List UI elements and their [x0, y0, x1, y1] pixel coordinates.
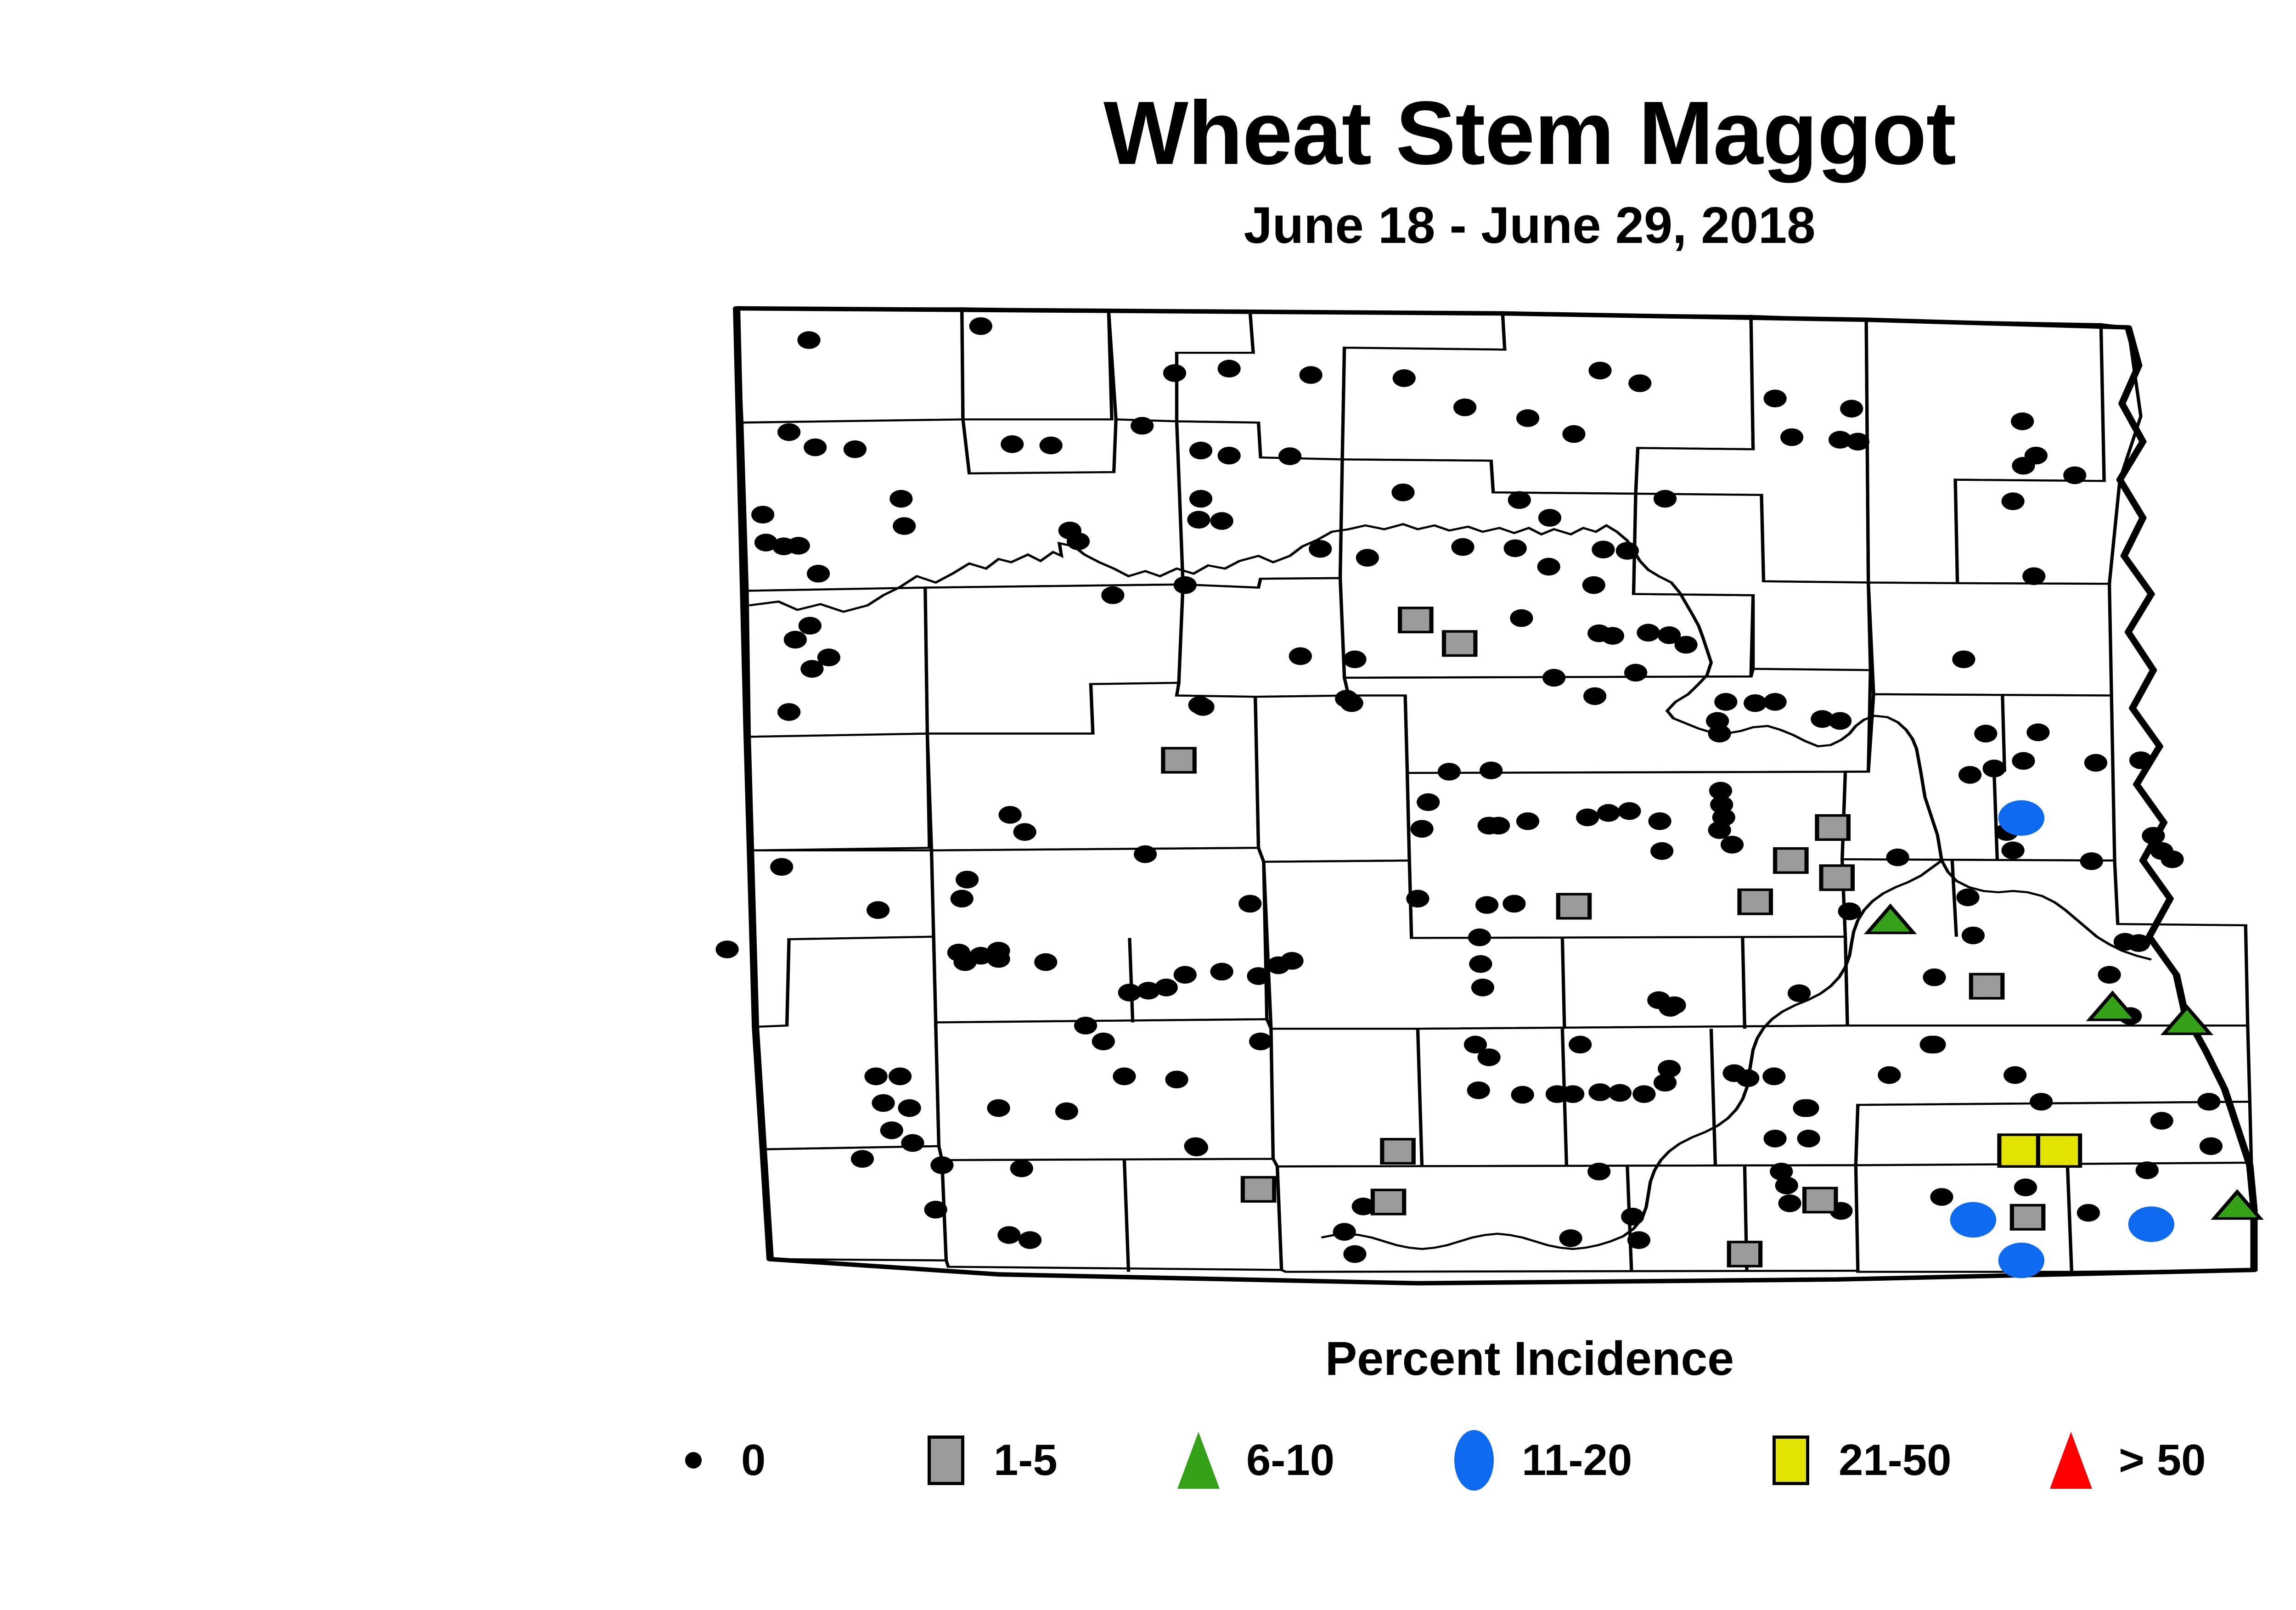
map-marker-zero: [1187, 511, 1210, 529]
map-marker-zero: [1453, 399, 1476, 417]
north-dakota-map: [684, 289, 2296, 1286]
map-marker-zero: [2002, 492, 2025, 510]
map-marker-zero: [987, 1099, 1010, 1117]
map-marker-zero: [893, 517, 916, 535]
map-marker-zero: [1238, 895, 1261, 913]
map-marker-zero: [1648, 812, 1671, 830]
map-svg: [684, 289, 2296, 1286]
map-marker-zero: [2127, 934, 2150, 952]
map-marker-zero: [1471, 979, 1494, 996]
map-marker-zero: [1210, 963, 1233, 980]
map-marker-zero: [1930, 1188, 1953, 1206]
map-marker-zero: [2161, 850, 2183, 868]
map-marker-square: [1971, 974, 2002, 998]
map-marker-zero: [1174, 576, 1197, 594]
blue-circle-icon: [1442, 1428, 1506, 1492]
map-marker-zero: [1576, 809, 1599, 827]
map-marker-zero: [1788, 984, 1811, 1002]
map-marker-zero: [2022, 567, 2045, 585]
map-marker-zero: [1478, 1048, 1501, 1066]
map-marker-zero: [1189, 490, 1212, 508]
map-marker-zero: [872, 1094, 895, 1112]
map-marker-zero: [969, 317, 992, 335]
legend-item-label: 21-50: [1839, 1435, 1952, 1486]
map-marker-zero: [1840, 400, 1863, 417]
map-marker-zero: [1923, 968, 1946, 986]
map-marker-zero: [1101, 586, 1124, 604]
map-marker-zero: [1764, 693, 1787, 711]
map-marker-zero: [1001, 435, 1024, 453]
map-marker-zero: [1013, 823, 1036, 841]
map-marker-zero: [1478, 817, 1501, 835]
map-marker-zero: [1778, 1194, 1801, 1212]
map-marker-zero: [1165, 1070, 1188, 1088]
map-marker-square: [2012, 1205, 2043, 1229]
map-marker-zero: [1278, 447, 1301, 465]
map-marker-zero: [2197, 1093, 2220, 1111]
map-marker-zero: [1886, 849, 1909, 867]
map-marker-zero: [1113, 1068, 1136, 1086]
map-marker-zero: [1762, 1068, 1785, 1086]
map-marker-square: [1444, 631, 1475, 656]
map-marker-zero: [851, 1150, 874, 1168]
map-marker-zero: [1659, 999, 1682, 1017]
green-triangle-icon-shape: [1177, 1432, 1220, 1489]
map-marker-zero: [901, 1134, 924, 1152]
map-marker-zero: [1055, 1103, 1078, 1120]
map-marker-zero: [1723, 1064, 1746, 1082]
map-marker-square: [2038, 1135, 2080, 1166]
map-marker-zero: [2200, 1137, 2223, 1155]
map-marker-zero: [1393, 369, 1416, 387]
map-marker-zero: [924, 1201, 947, 1219]
map-marker-zero: [1343, 1245, 1366, 1263]
map-marker-square: [1558, 894, 1589, 918]
map-marker-zero: [1838, 902, 1861, 920]
map-marker-zero: [1628, 374, 1651, 392]
map-marker-zero: [1923, 1036, 1946, 1053]
legend-items: 01-56-1011-2021-50> 50: [0, 1421, 2296, 1513]
map-marker-zero: [1131, 417, 1154, 435]
map-marker-zero: [1637, 624, 1660, 642]
map-marker-zero: [1174, 966, 1197, 984]
map-marker-zero: [1846, 433, 1869, 450]
map-marker-zero: [2098, 966, 2121, 984]
map-marker-zero: [1721, 836, 1744, 854]
map-marker-zero: [1562, 425, 1585, 443]
map-marker-zero: [1480, 761, 1503, 779]
map-marker-zero: [1249, 1033, 1272, 1051]
map-marker-zero: [2026, 723, 2049, 741]
map-marker-zero: [2012, 752, 2035, 770]
map-marker-zero: [2012, 457, 2035, 475]
map-marker-zero: [1542, 669, 1565, 687]
map-marker-zero: [1618, 802, 1641, 820]
page-title: Wheat Stem Maggot: [0, 87, 2296, 179]
legend-item-label: > 50: [2119, 1435, 2206, 1486]
yellow-square-icon: [1759, 1428, 1823, 1492]
red-triangle-icon: [2039, 1428, 2103, 1492]
map-marker-zero: [1962, 927, 1985, 945]
map-marker-zero: [1300, 366, 1322, 384]
black-dot-icon: [661, 1428, 726, 1492]
map-marker-square: [1775, 849, 1806, 873]
map-marker-zero: [1406, 890, 1429, 908]
map-marker-zero: [2030, 1093, 2053, 1111]
map-marker-zero: [898, 1099, 921, 1117]
map-marker-zero: [777, 703, 800, 721]
map-marker-zero: [1956, 889, 1979, 906]
map-marker-zero: [1587, 1163, 1610, 1181]
map-marker-square: [1243, 1177, 1274, 1202]
map-marker-zero: [1708, 725, 1731, 743]
map-marker-zero: [1582, 576, 1605, 594]
map-marker-zero: [930, 1156, 953, 1174]
map-marker-zero: [1280, 952, 1303, 970]
map-marker-zero: [1289, 647, 1312, 665]
legend-item[interactable]: 0: [661, 1421, 765, 1499]
legend-item-label: 1-5: [994, 1435, 1058, 1486]
map-marker-zero: [1764, 1130, 1787, 1148]
map-marker-zero: [1185, 1138, 1208, 1156]
map-marker-zero: [997, 1226, 1020, 1244]
map-marker-zero: [1675, 636, 1698, 654]
map-marker-zero: [715, 940, 738, 958]
map-marker-zero: [1982, 760, 2005, 777]
map-marker-zero: [807, 565, 830, 583]
map-marker-zero: [1597, 804, 1620, 822]
map-marker-zero: [787, 537, 810, 555]
map-marker-square: [1163, 748, 1194, 772]
map-marker-zero: [1092, 1033, 1115, 1051]
map-marker-zero: [1333, 1223, 1356, 1241]
map-marker-zero: [751, 506, 774, 524]
gray-square-icon: [914, 1428, 978, 1492]
wheat-stem-maggot-map-page: Wheat Stem Maggot June 18 - June 29, 201…: [0, 0, 2296, 1610]
map-marker-zero: [1654, 490, 1677, 508]
map-marker-square: [1999, 1135, 2041, 1166]
yellow-square-icon-shape: [1773, 1435, 1809, 1485]
map-marker-zero: [2136, 1161, 2159, 1179]
map-marker-zero: [2014, 1178, 2037, 1196]
map-marker-zero: [1391, 484, 1414, 501]
map-marker-square: [1729, 1242, 1760, 1267]
map-marker-zero: [1417, 793, 1440, 811]
map-marker-zero: [1163, 364, 1186, 382]
map-marker-zero: [1592, 540, 1615, 558]
map-marker-circle: [1998, 800, 2044, 836]
map-marker-zero: [880, 1121, 903, 1139]
map-marker-zero: [1561, 1085, 1584, 1103]
map-marker-zero: [867, 901, 889, 919]
legend-item-label: 11-20: [1522, 1435, 1632, 1486]
map-marker-zero: [1958, 766, 1981, 784]
map-marker-zero: [1616, 542, 1639, 560]
map-marker-zero: [1537, 558, 1560, 576]
map-marker-zero: [1569, 1036, 1592, 1053]
map-marker-zero: [1438, 763, 1461, 781]
map-marker-zero: [770, 858, 793, 876]
map-marker-square: [1817, 816, 1848, 840]
map-marker-circle: [1998, 1243, 2044, 1278]
map-marker-zero: [1247, 967, 1270, 985]
map-marker-zero: [1588, 362, 1611, 380]
map-marker-zero: [1797, 1130, 1820, 1148]
map-marker-zero: [2002, 841, 2025, 859]
map-marker-zero: [1468, 929, 1491, 946]
red-triangle-icon-shape: [2050, 1432, 2092, 1489]
map-marker-zero: [1192, 698, 1215, 716]
map-marker-zero: [1504, 540, 1527, 557]
legend: Percent Incidence 01-56-1011-2021-50> 50: [0, 1332, 2296, 1513]
map-marker-zero: [1624, 664, 1647, 681]
map-marker-zero: [1040, 437, 1063, 455]
map-marker-zero: [844, 440, 867, 458]
map-marker-zero: [1467, 1081, 1490, 1099]
map-marker-zero: [1010, 1160, 1033, 1177]
map-marker-zero: [1601, 627, 1624, 645]
map-marker-zero: [2150, 1112, 2173, 1130]
map-marker-zero: [1503, 895, 1525, 913]
map-marker-zero: [1451, 538, 1474, 556]
map-marker-zero: [1508, 491, 1531, 509]
map-marker-zero: [1210, 512, 1233, 530]
title-block: Wheat Stem Maggot June 18 - June 29, 201…: [0, 87, 2296, 255]
map-marker-zero: [2077, 1204, 2100, 1222]
map-marker-zero: [2080, 852, 2103, 870]
map-marker-zero: [1654, 1074, 1677, 1092]
map-marker-zero: [1878, 1066, 1901, 1084]
legend-item-label: 0: [741, 1435, 765, 1486]
map-marker-square: [1382, 1139, 1413, 1164]
legend-title: Percent Incidence: [0, 1332, 2296, 1386]
map-marker-zero: [2129, 751, 2152, 769]
page-subtitle: June 18 - June 29, 2018: [0, 196, 2296, 255]
map-marker-zero: [1538, 509, 1561, 527]
map-marker-square: [1821, 866, 1852, 890]
map-marker-zero: [784, 631, 807, 649]
map-marker-zero: [1583, 687, 1606, 705]
map-marker-zero: [1155, 979, 1178, 996]
blue-circle-icon-shape: [1454, 1430, 1494, 1491]
map-marker-zero: [1714, 693, 1737, 711]
map-marker-zero: [1134, 845, 1157, 863]
map-marker-zero: [1650, 842, 1673, 860]
map-marker-zero: [1780, 428, 1803, 446]
black-dot-icon-shape: [685, 1452, 702, 1469]
map-marker-square: [1373, 1190, 1404, 1214]
map-marker-zero: [951, 890, 974, 908]
map-marker-zero: [1475, 896, 1498, 914]
legend-item[interactable]: > 50: [2039, 1421, 2206, 1499]
map-marker-zero: [1343, 650, 1366, 668]
map-marker-zero: [797, 331, 820, 349]
legend-item[interactable]: 6-10: [1166, 1421, 1334, 1499]
map-marker-zero: [1621, 1208, 1644, 1226]
map-marker-zero: [1588, 1083, 1611, 1101]
legend-item[interactable]: 21-50: [1759, 1421, 1952, 1499]
map-marker-zero: [1074, 1017, 1097, 1035]
map-marker-zero: [1034, 953, 1057, 971]
map-marker-zero: [1559, 1229, 1582, 1247]
map-marker-zero: [1708, 821, 1731, 839]
map-marker-zero: [1309, 540, 1332, 558]
gray-square-icon-shape: [928, 1435, 964, 1485]
map-marker-zero: [799, 617, 822, 635]
map-marker-square: [1400, 608, 1431, 632]
map-marker-zero: [1952, 650, 1975, 668]
map-marker-zero: [2003, 1066, 2026, 1084]
map-marker-zero: [1189, 442, 1212, 460]
map-marker-zero: [889, 490, 912, 508]
map-marker-circle: [2128, 1206, 2174, 1242]
map-marker-zero: [1796, 1099, 1819, 1117]
map-marker-circle: [1950, 1202, 1996, 1238]
map-marker-square: [1739, 890, 1771, 914]
map-marker-zero: [817, 648, 840, 666]
map-marker-zero: [804, 439, 827, 456]
map-marker-zero: [1516, 812, 1539, 830]
map-marker-zero: [2142, 827, 2165, 845]
map-marker-zero: [1356, 549, 1379, 567]
map-marker-zero: [777, 423, 800, 441]
map-marker-zero: [1516, 409, 1539, 427]
map-marker-zero: [1627, 1231, 1650, 1249]
map-marker-zero: [2011, 412, 2034, 430]
map-marker-zero: [1510, 609, 1533, 627]
map-marker-zero: [1829, 712, 1851, 730]
map-marker-zero: [1469, 955, 1492, 973]
map-marker-zero: [1744, 694, 1767, 712]
map-marker-zero: [865, 1068, 888, 1086]
map-marker-zero: [1218, 360, 1241, 377]
map-marker-zero: [1609, 1084, 1632, 1102]
map-marker-zero: [1974, 725, 1997, 743]
map-marker-zero: [1218, 447, 1241, 465]
map-marker-zero: [1019, 1231, 1041, 1249]
map-marker-zero: [956, 871, 979, 889]
map-marker-zero: [2063, 467, 2086, 484]
green-triangle-icon: [1166, 1428, 1231, 1492]
map-marker-zero: [1410, 820, 1433, 838]
map-marker-zero: [1067, 532, 1090, 550]
map-marker-zero: [1632, 1085, 1655, 1103]
legend-item[interactable]: 1-5: [914, 1421, 1058, 1499]
map-marker-square: [1805, 1188, 1836, 1212]
legend-item[interactable]: 11-20: [1442, 1421, 1632, 1499]
map-marker-zero: [987, 942, 1010, 960]
map-marker-zero: [889, 1068, 912, 1086]
map-marker-zero: [2084, 754, 2107, 772]
map-marker-zero: [1764, 389, 1787, 407]
map-marker-zero: [1770, 1163, 1793, 1181]
map-marker-zero: [999, 806, 1022, 824]
map-marker-zero: [1511, 1086, 1534, 1104]
legend-item-label: 6-10: [1246, 1435, 1334, 1486]
map-marker-zero: [1340, 694, 1363, 712]
